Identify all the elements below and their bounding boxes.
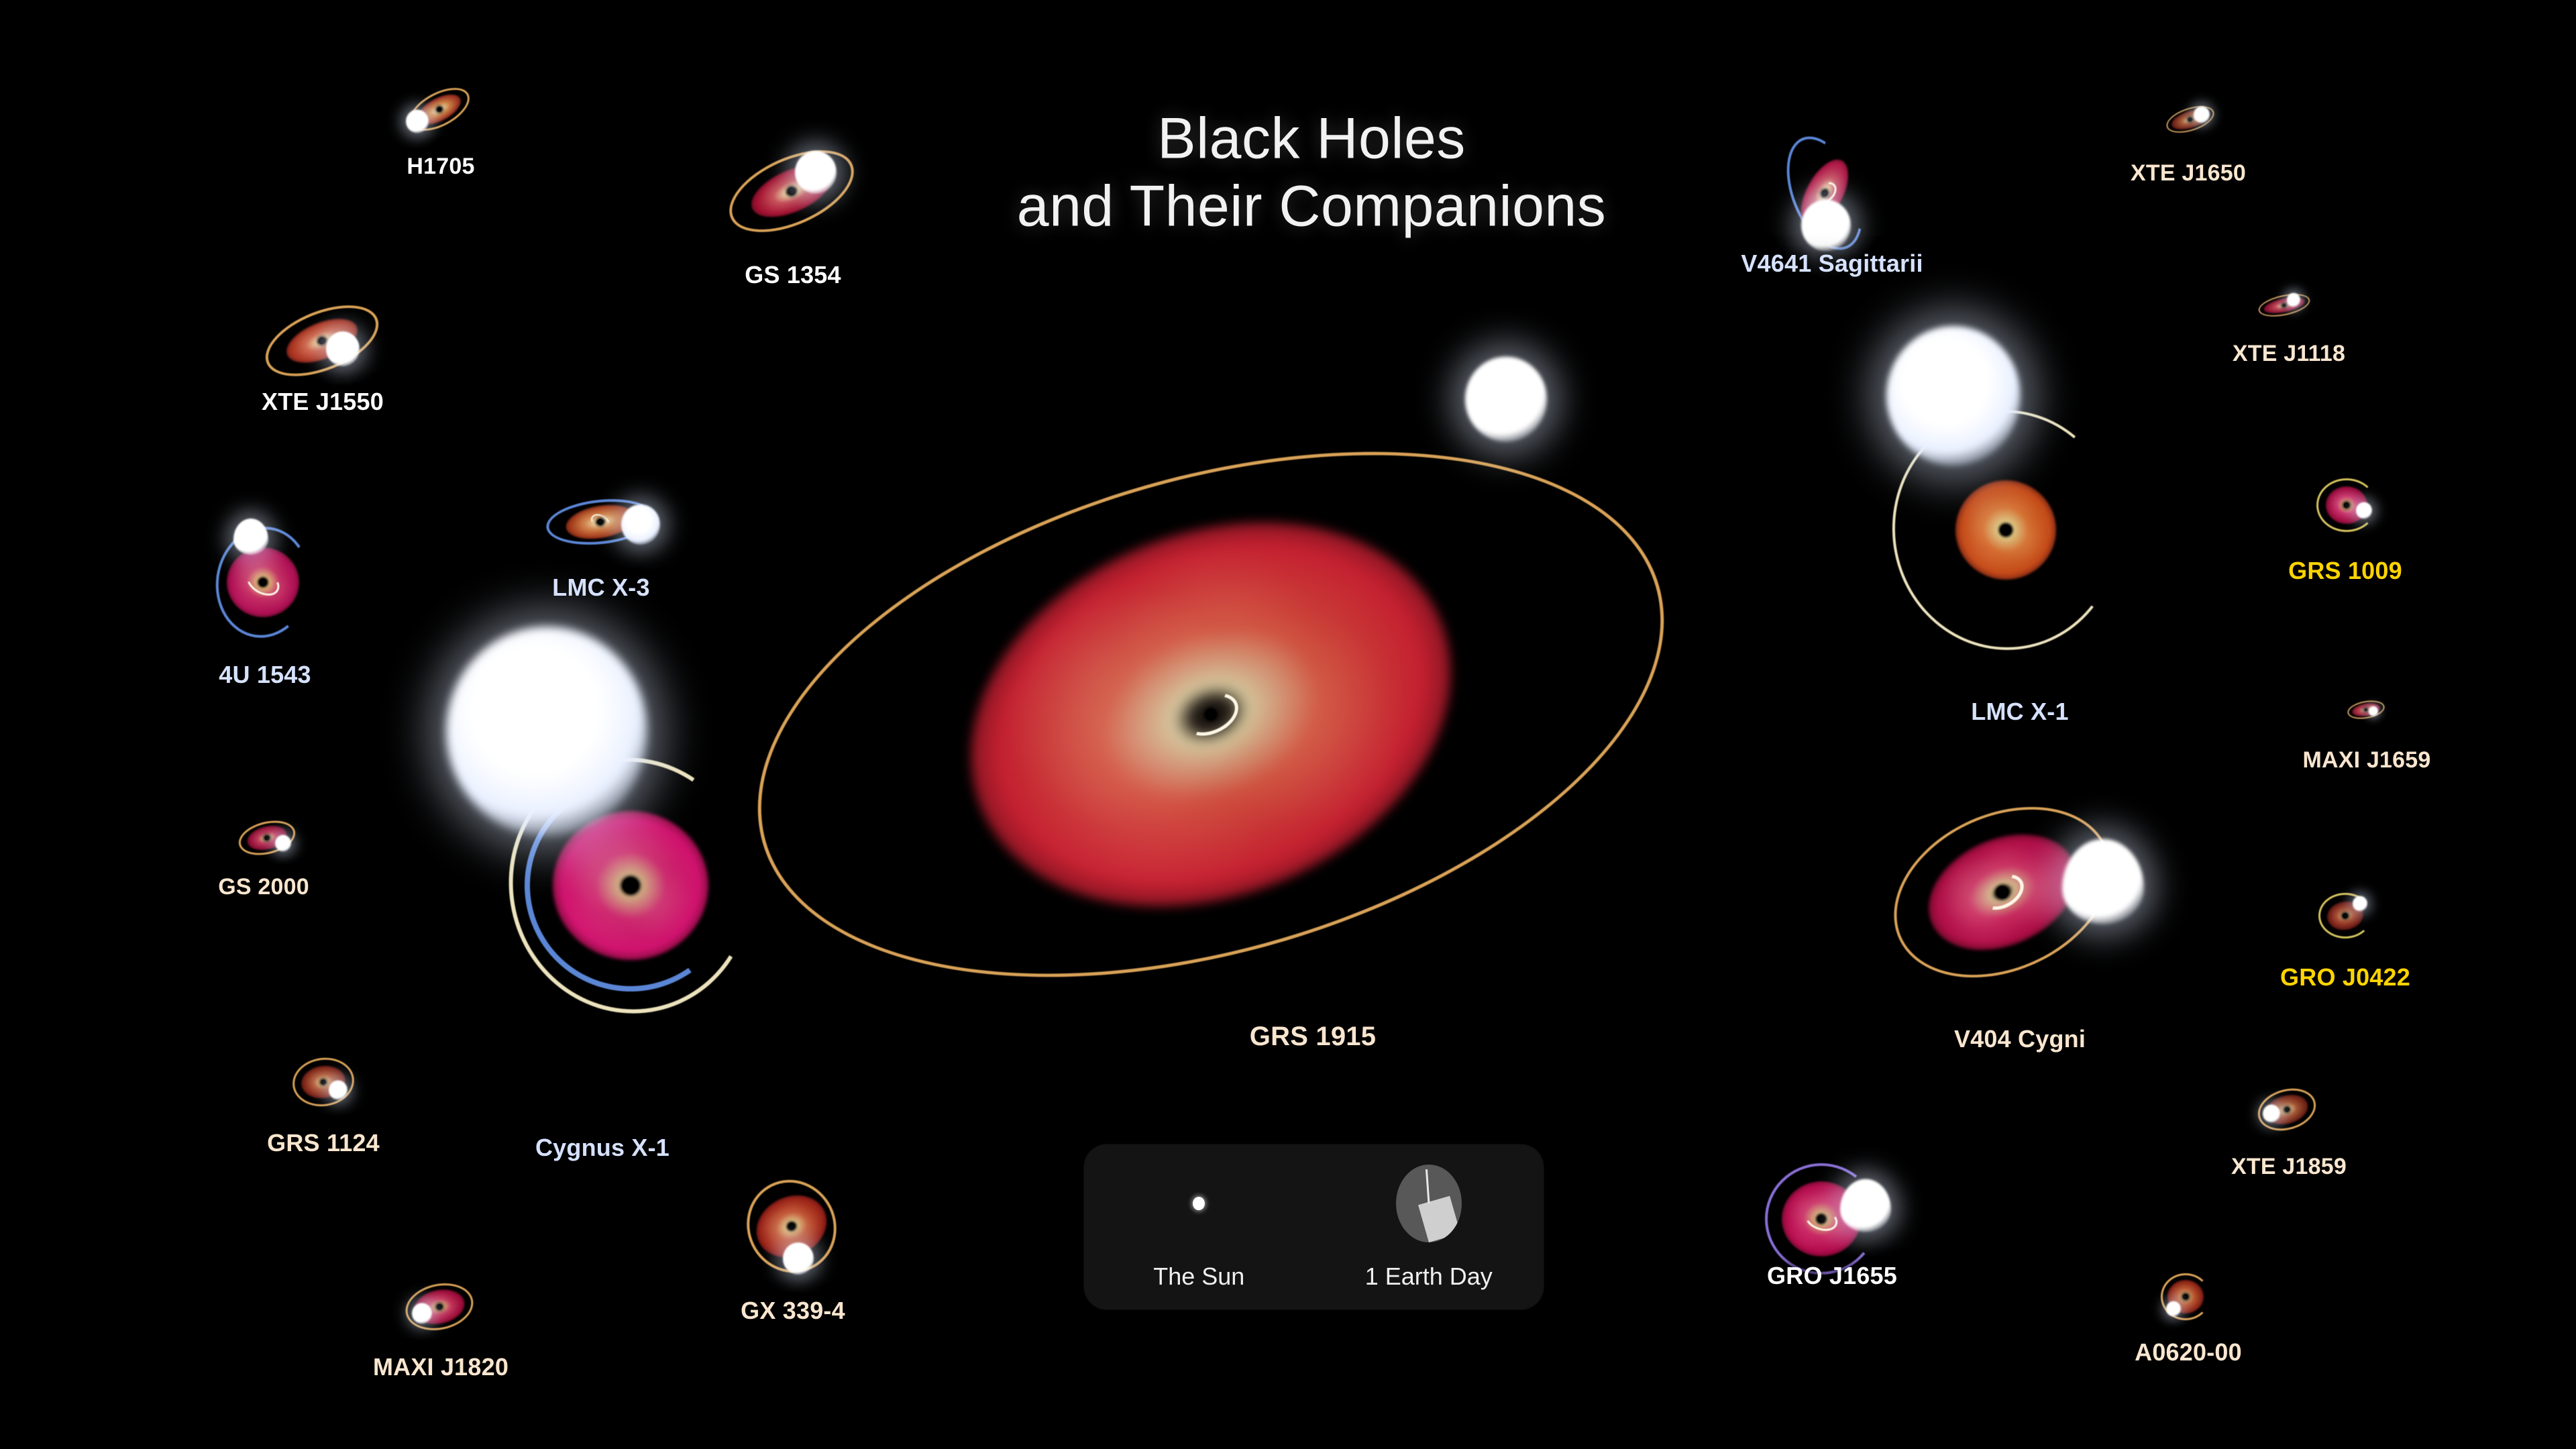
- black-hole: [2000, 525, 2011, 535]
- black-hole: [2283, 304, 2286, 307]
- black-hole: [1818, 1216, 1825, 1223]
- system-label-a0620_00: A0620-00: [2135, 1338, 2242, 1366]
- legend-label-the-sun: The Sun: [1153, 1263, 1244, 1291]
- scale-legend: The Sun 1 Earth Day: [1084, 1144, 1544, 1309]
- system-label-maxij1820: MAXI J1820: [373, 1353, 508, 1381]
- companion-star: [2263, 1104, 2280, 1122]
- black-hole: [788, 1223, 795, 1230]
- black-hole: [265, 836, 270, 841]
- black-hole: [598, 519, 604, 525]
- black-hole: [437, 107, 442, 112]
- system-label-grs1124: GRS 1124: [267, 1129, 380, 1157]
- black-hole: [321, 1080, 326, 1085]
- black-hole: [1822, 191, 1828, 197]
- companion-star: [275, 835, 291, 852]
- companion-star: [326, 331, 360, 366]
- companion-star: [329, 1080, 347, 1099]
- system-label-grs1009: GRS 1009: [2288, 557, 2402, 585]
- system-label-gs2000: GS 2000: [218, 874, 309, 900]
- page-title: Black Holes and Their Companions: [1017, 105, 1606, 241]
- black-hole: [623, 878, 639, 894]
- black-hole: [2183, 1294, 2188, 1299]
- black-hole: [260, 579, 267, 586]
- system-label-cygnusx1: Cygnus X-1: [535, 1134, 669, 1162]
- black-hole: [1996, 886, 2008, 898]
- black-hole: [319, 337, 325, 344]
- companion-star: [783, 1242, 814, 1275]
- black-hole: [2365, 708, 2367, 711]
- black-hole: [2344, 502, 2349, 508]
- sun-dot-icon: [1084, 1144, 1314, 1263]
- companion-star: [2369, 706, 2378, 716]
- companion-star: [1840, 1179, 1891, 1232]
- legend-item-one-earth-day: 1 Earth Day: [1314, 1144, 1544, 1291]
- companion-star: [1465, 357, 1547, 442]
- black-hole: [2343, 913, 2348, 918]
- companion-star: [795, 151, 837, 194]
- companion-star: [446, 627, 647, 836]
- legend-label-one-earth-day: 1 Earth Day: [1365, 1263, 1493, 1291]
- system-label-xtej1859: XTE J1859: [2231, 1154, 2347, 1180]
- companion-star: [621, 504, 660, 545]
- system-label-xtej1118: XTE J1118: [2233, 341, 2345, 367]
- companion-star: [2287, 293, 2300, 307]
- system-label-lmcx3: LMC X-3: [552, 574, 649, 602]
- black-hole: [1205, 709, 1217, 720]
- companion-star: [2356, 502, 2372, 519]
- companion-star: [2062, 839, 2144, 924]
- companion-star: [2353, 896, 2367, 912]
- system-label-groj1655: GRO J1655: [1767, 1262, 1897, 1290]
- system-label-gs1354: GS 1354: [745, 261, 841, 289]
- system-label-v404cygni: V404 Cygni: [1954, 1025, 2086, 1053]
- black-hole: [788, 187, 796, 195]
- companion-star: [412, 1303, 432, 1324]
- system-label-xtej1550: XTE J1550: [262, 388, 384, 416]
- system-label-v4641sgr: V4641 Sagittarii: [1741, 250, 1923, 278]
- black-hole: [437, 1304, 442, 1309]
- starfield-canvas: Black Holes and Their Companions H1705GS…: [0, 0, 2576, 1449]
- legend-item-the-sun: The Sun: [1084, 1144, 1314, 1291]
- companion-star: [1886, 326, 2021, 466]
- system-label-gx339_4: GX 339-4: [741, 1297, 845, 1325]
- companion-star: [233, 519, 268, 555]
- black-hole: [2188, 117, 2192, 121]
- companion-star: [2194, 107, 2210, 123]
- system-label-groj0422: GRO J0422: [2280, 963, 2410, 991]
- system-label-grs1915: GRS 1915: [1250, 1022, 1376, 1052]
- companion-star: [1801, 200, 1851, 252]
- day-clock-icon: [1314, 1144, 1544, 1263]
- system-label-4u1543: 4U 1543: [219, 661, 311, 689]
- system-label-lmcx1: LMC X-1: [1971, 698, 2068, 726]
- companion-star: [406, 109, 429, 133]
- system-label-h1705: H1705: [407, 154, 474, 180]
- system-label-xtej1650: XTE J1650: [2131, 160, 2246, 186]
- black-hole: [2285, 1108, 2290, 1112]
- system-label-maxij1659: MAXI J1659: [2303, 747, 2431, 773]
- companion-star: [2166, 1301, 2181, 1317]
